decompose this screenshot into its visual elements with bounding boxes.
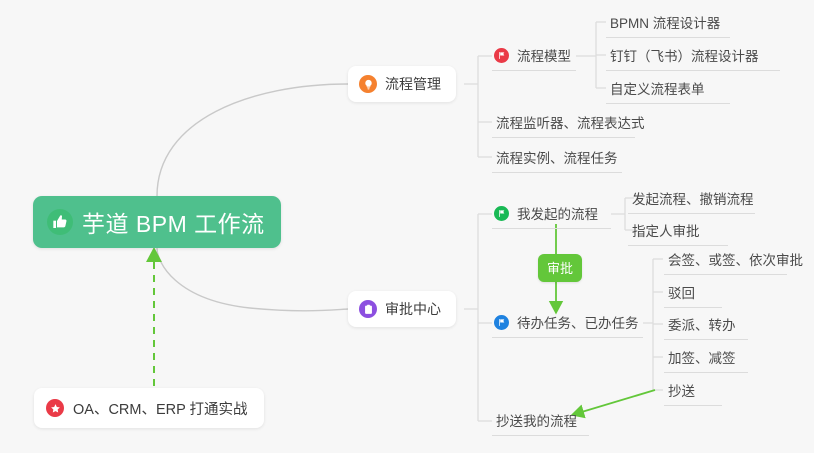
lightbulb-icon [359,75,377,93]
root-label: 芋道 BPM 工作流 [82,205,265,239]
mindmap-canvas: 芋道 BPM 工作流 流程管理 流程模型 BPMN 流程设计器 钉钉（飞书）流程… [0,0,814,453]
flag-icon [494,206,509,221]
leaf-add-remove-sign[interactable]: 加签、减签 [664,344,748,373]
approval-badge: 审批 [538,254,582,282]
leaf-start-cancel-process[interactable]: 发起流程、撤销流程 [628,185,755,214]
callout-node-oa-crm-erp[interactable]: OA、CRM、ERP 打通实战 [34,388,264,428]
leaf-bpmn-designer[interactable]: BPMN 流程设计器 [606,9,730,38]
leaf-dingtalk-feishu-designer[interactable]: 钉钉（飞书）流程设计器 [606,42,780,71]
root-node[interactable]: 芋道 BPM 工作流 [33,196,281,248]
leaf-cc[interactable]: 抄送 [664,377,722,406]
leaf-custom-process-form[interactable]: 自定义流程表单 [606,75,730,104]
branch-label-approval-center: 审批中心 [385,299,441,319]
branch-node-process-management[interactable]: 流程管理 [348,66,456,102]
leaf-cc-to-me-process[interactable]: 抄送我的流程 [492,407,589,436]
leaf-assignee-approval[interactable]: 指定人审批 [628,217,728,246]
node-label-todo-done-tasks: 待办任务、已办任务 [517,312,639,332]
node-process-model[interactable]: 流程模型 [492,42,576,71]
leaf-delegate-transfer[interactable]: 委派、转办 [664,311,748,340]
branch-node-approval-center[interactable]: 审批中心 [348,291,456,327]
flag-icon [494,48,509,63]
flag-icon [494,315,509,330]
callout-label: OA、CRM、ERP 打通实战 [73,398,248,419]
star-icon [46,399,64,417]
node-my-initiated-process[interactable]: 我发起的流程 [492,200,611,229]
leaf-countersign-orsign-sequential[interactable]: 会签、或签、依次审批 [664,246,787,275]
leaf-process-instance-task[interactable]: 流程实例、流程任务 [492,144,622,173]
node-label-process-model: 流程模型 [517,45,571,65]
branch-label-process-management: 流程管理 [385,74,441,94]
node-label-my-initiated-process: 我发起的流程 [517,203,598,223]
node-todo-done-tasks[interactable]: 待办任务、已办任务 [492,309,643,338]
clipboard-icon [359,300,377,318]
leaf-process-listener-expression[interactable]: 流程监听器、流程表达式 [492,109,635,138]
leaf-reject[interactable]: 驳回 [664,279,722,308]
thumbs-up-icon [47,209,73,235]
